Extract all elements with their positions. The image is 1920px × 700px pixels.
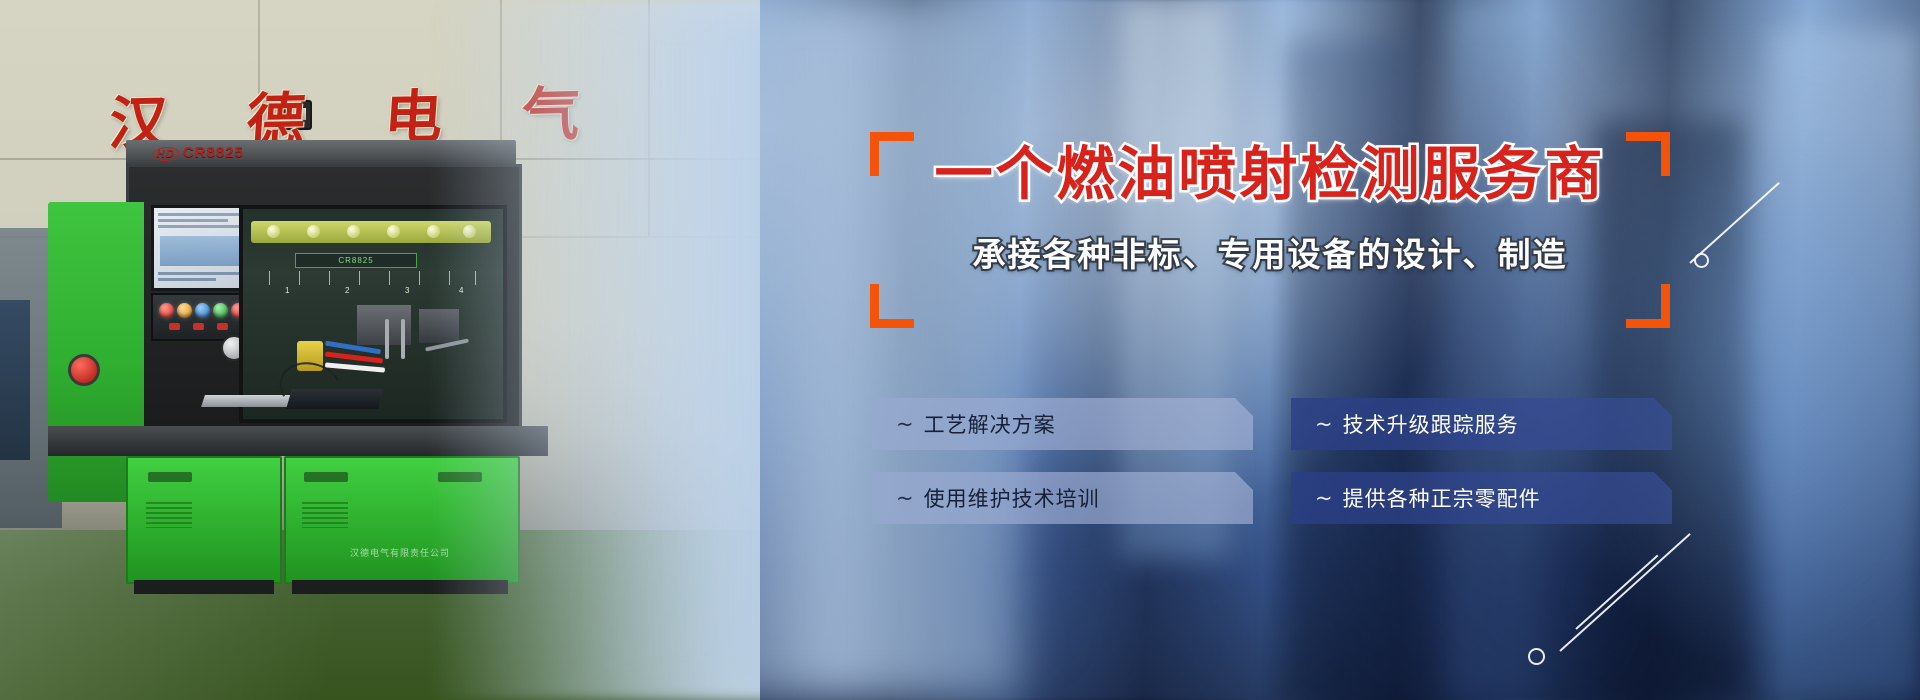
machine-panel-label: CR8825 [295,253,417,268]
decor-circle [1528,648,1545,665]
background-equipment [0,300,30,460]
feature-label: 工艺解决方案 [924,409,1056,439]
feature-item-parts-supply[interactable]: ~ 提供各种正宗零配件 [1291,472,1672,524]
corner-bracket-bottom-left-icon [870,284,914,328]
feature-item-training[interactable]: ~ 使用维护技术培训 [872,472,1253,524]
feature-item-process-solution[interactable]: ~ 工艺解决方案 [872,398,1253,450]
hero-banner: 汉 德 电 气 HDCR8825 [0,0,1920,700]
machine-model-text: CR8825 [183,144,244,161]
machine-model-badge: HDCR8825 [153,144,244,161]
feature-label: 技术升级跟踪服务 [1343,409,1519,439]
feature-list: ~ 工艺解决方案 ~ 技术升级跟踪服务 ~ 使用维护技术培训 ~ 提供各种正宗零… [872,398,1672,524]
decor-circle [1694,253,1709,268]
feature-item-tech-upgrade[interactable]: ~ 技术升级跟踪服务 [1291,398,1672,450]
photo-blend-overlay-outer [600,0,1020,700]
feature-label: 提供各种正宗零配件 [1343,483,1541,513]
tilde-icon: ~ [1315,486,1334,510]
tilde-icon: ~ [896,486,915,510]
tilde-icon: ~ [896,412,915,436]
feature-label: 使用维护技术培训 [924,483,1100,513]
hero-headline: 一个燃油喷射检测服务商 [860,144,1680,205]
tilde-icon: ~ [1315,412,1334,436]
machine-brand-mark: HD [152,147,181,161]
emergency-stop-button [68,354,100,386]
corner-bracket-bottom-right-icon [1626,284,1670,328]
hero-text-block: 一个燃油喷射检测服务商 承接各种非标、专用设备的设计、制造 [860,118,1680,338]
hero-subheadline: 承接各种非标、专用设备的设计、制造 [860,228,1680,276]
machine-drawer [126,456,282,584]
